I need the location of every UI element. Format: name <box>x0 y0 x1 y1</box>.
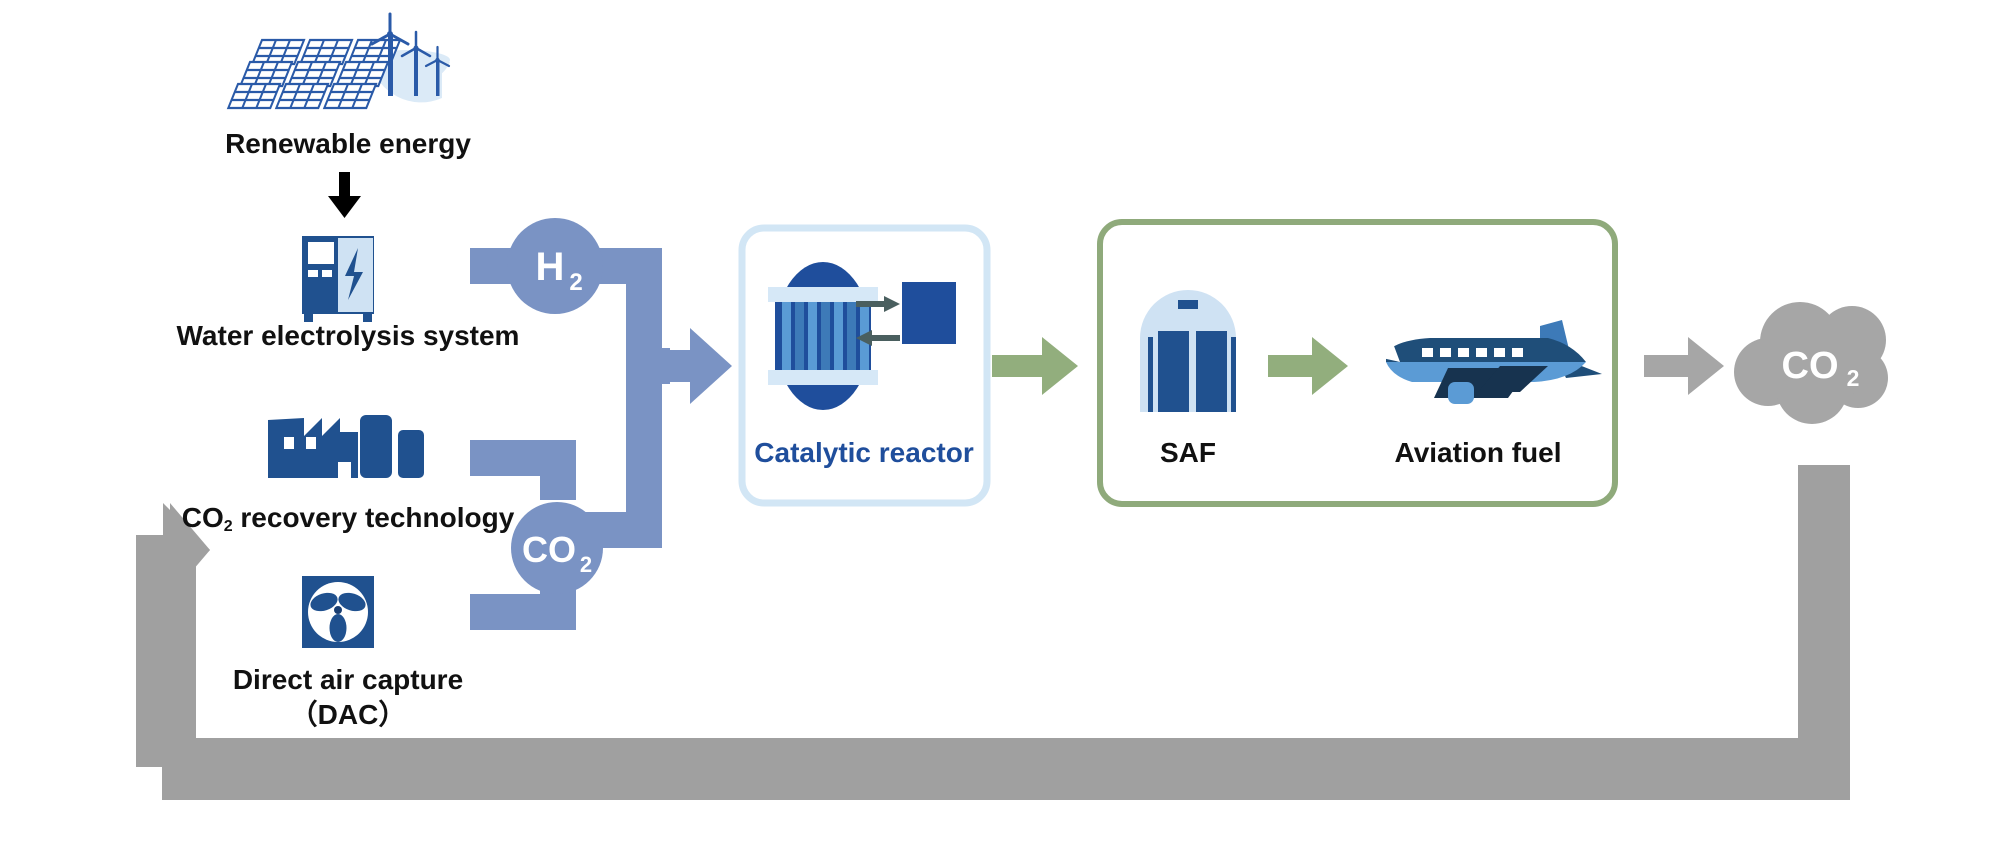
label-water-electrolysis: Water electrolysis system <box>177 318 520 353</box>
co2-cloud-icon: CO 2 <box>1734 302 1888 424</box>
label-renewable-energy: Renewable energy <box>225 126 471 161</box>
renewable-to-electrolysis-arrow <box>328 172 361 218</box>
svg-text:2: 2 <box>580 552 592 577</box>
label-co2-recovery-rest: recovery technology <box>233 502 515 533</box>
electrolyzer-cabinet-icon <box>302 236 374 322</box>
diagram-canvas: H 2 CO 2 <box>0 0 2000 858</box>
co2-node: CO 2 <box>511 502 603 594</box>
label-direct-air-capture: Direct air capture （DAC） <box>233 662 463 732</box>
label-dac-line2: （DAC） <box>233 697 463 732</box>
svg-text:CO: CO <box>1782 345 1839 387</box>
plane-to-co2-arrow <box>1644 337 1724 395</box>
reactor-to-saf-arrow <box>992 337 1078 395</box>
label-co2-recovery-sub: 2 <box>224 518 233 535</box>
label-catalytic-reactor: Catalytic reactor <box>754 435 973 470</box>
label-dac-line1: Direct air capture <box>233 662 463 697</box>
svg-text:2: 2 <box>1847 365 1860 391</box>
label-saf: SAF <box>1160 435 1216 470</box>
storage-tank-icon <box>1140 290 1236 412</box>
solar-panel-wind-turbine-icon <box>228 14 450 108</box>
label-co2-recovery: CO2 recovery technology <box>182 500 515 535</box>
svg-text:CO: CO <box>522 529 576 570</box>
svg-text:H: H <box>536 245 565 289</box>
h2-node: H 2 <box>507 218 603 314</box>
svg-text:2: 2 <box>569 269 582 296</box>
fan-dac-icon <box>302 576 374 648</box>
label-co2-recovery-main: CO <box>182 502 224 533</box>
factory-icon <box>268 415 424 478</box>
label-aviation-fuel: Aviation fuel <box>1395 435 1562 470</box>
